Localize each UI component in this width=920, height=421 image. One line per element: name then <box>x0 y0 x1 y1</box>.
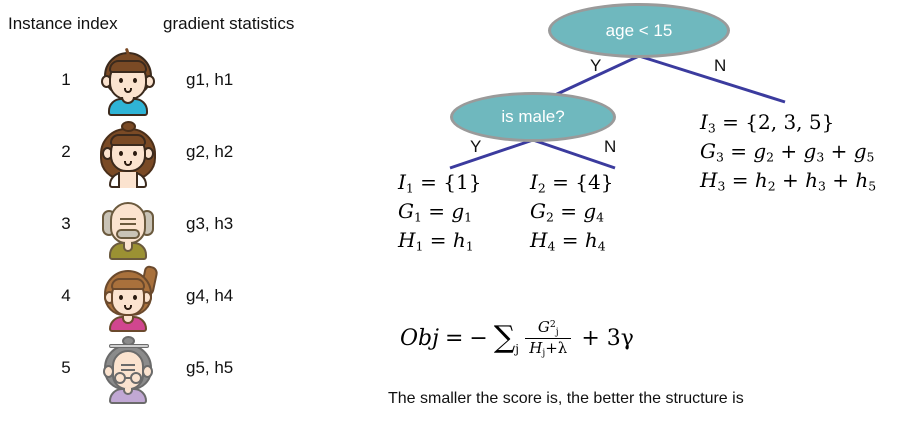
boy-avatar <box>96 48 160 112</box>
gradient-statistics-value: g5, h5 <box>186 332 233 404</box>
instance-index-label: 3 <box>52 188 80 260</box>
girl-avatar <box>96 120 160 184</box>
leaf2-gradient-sum: G2 = g4 <box>530 197 613 226</box>
leaf-stats-block-3: I3 = {2, 3, 5} G3 = g2 + g3 + g5 H3 = h2… <box>700 108 876 195</box>
leaf3-index-set: I3 = {2, 3, 5} <box>700 108 876 137</box>
leaf3-gradient-sum: G3 = g2 + g3 + g5 <box>700 137 876 166</box>
elderly-woman-avatar <box>96 336 160 400</box>
edge-label-male-no: N <box>604 137 616 157</box>
leaf1-hessian-sum: H1 = h1 <box>398 226 481 255</box>
leaf-stats-block-1: I1 = {1} G1 = g1 H1 = h1 <box>398 168 481 255</box>
column-header-instance-index: Instance index <box>8 14 118 34</box>
objective-formula: Obj = − ∑j G2j Hj+λ + 3γ <box>400 318 634 358</box>
elderly-man-avatar <box>96 192 160 256</box>
fraction-numerator: G2j <box>534 318 563 338</box>
instance-row: 1 g1, h1 <box>0 44 340 116</box>
instance-index-label: 5 <box>52 332 80 404</box>
leaf-stats-block-2: I2 = {4} G2 = g4 H4 = h4 <box>530 168 613 255</box>
edge-label-root-yes: Y <box>590 56 601 76</box>
edge-label-male-yes: Y <box>470 137 481 157</box>
leaf2-index-set: I2 = {4} <box>530 168 613 197</box>
instance-index-label: 4 <box>52 260 80 332</box>
instance-index-label: 2 <box>52 116 80 188</box>
leaf3-hessian-sum: H3 = h2 + h3 + h5 <box>700 166 876 195</box>
figure-root: Instance index gradient statistics 1 g1,… <box>0 0 920 421</box>
gradient-statistics-value: g2, h2 <box>186 116 233 188</box>
gradient-statistics-value: g1, h1 <box>186 44 233 116</box>
objective-lhs: Obj <box>400 326 439 351</box>
instance-row: 2 g2, h2 <box>0 116 340 188</box>
instance-index-label: 1 <box>52 44 80 116</box>
instance-row: 5 g5, h5 <box>0 332 340 404</box>
gradient-statistics-value: g4, h4 <box>186 260 233 332</box>
column-header-gradient-statistics: gradient statistics <box>163 14 294 34</box>
instance-row: 4 g4, h4 <box>0 260 340 332</box>
gradient-statistics-value: g3, h3 <box>186 188 233 260</box>
instance-row: 3 g3, h3 <box>0 188 340 260</box>
girl-ponytail-avatar <box>96 264 160 328</box>
edge-label-root-no: N <box>714 56 726 76</box>
objective-tail: + 3γ <box>581 326 634 351</box>
summation-symbol: ∑j <box>494 323 515 353</box>
figure-caption: The smaller the score is, the better the… <box>388 390 744 408</box>
fraction-denominator: Hj+λ <box>525 338 571 359</box>
tree-node-is-male[interactable]: is male? <box>450 92 616 142</box>
tree-node-root[interactable]: age < 15 <box>548 3 730 58</box>
leaf2-hessian-sum: H4 = h4 <box>530 226 613 255</box>
objective-minus: − <box>469 326 487 351</box>
objective-equals: = <box>445 326 463 351</box>
objective-fraction: G2j Hj+λ <box>525 318 571 358</box>
leaf1-gradient-sum: G1 = g1 <box>398 197 481 226</box>
leaf1-index-set: I1 = {1} <box>398 168 481 197</box>
